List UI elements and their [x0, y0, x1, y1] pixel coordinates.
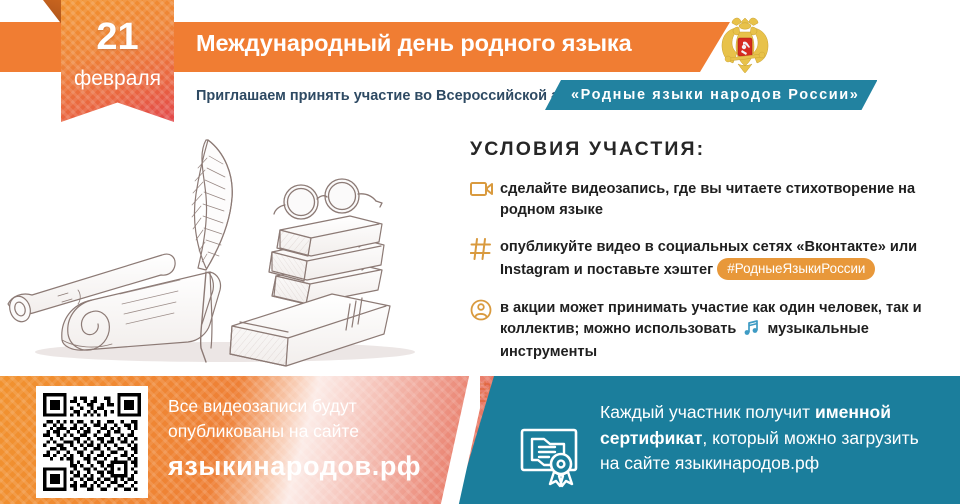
qr-code[interactable]	[36, 386, 148, 498]
footer-right-line1: Каждый участник получит именной	[600, 400, 919, 426]
illustration-sketch	[0, 126, 460, 376]
user-circle-icon	[470, 298, 500, 324]
condition-item-participants: в акции может принимать участие как один…	[470, 298, 950, 363]
condition-text-video: сделайте видеозапись, где вы читаете сти…	[500, 179, 950, 220]
footer-right-line2: сертификат, который можно загрузить	[600, 426, 919, 452]
condition-text-hashtag: опубликуйте видео в социальных сетях «Вк…	[500, 237, 950, 280]
certificate-icon	[518, 422, 584, 488]
footer-right-line2-plain: , который можно загрузить	[702, 428, 918, 448]
footer-right-line2-bold: сертификат	[600, 428, 702, 448]
hashtag-badge[interactable]: #РодныеЯзыкиРоссии	[717, 258, 875, 280]
page-title: Международный день родного языка	[196, 30, 696, 57]
footer-right-line3: на сайте языкинародов.рф	[600, 451, 919, 477]
footer-left-line1: Все видеозаписи будут	[168, 394, 421, 419]
footer-website[interactable]: языкинародов.рф	[168, 451, 421, 482]
russian-coat-of-arms-icon	[714, 14, 776, 80]
date-day: 21	[61, 18, 174, 56]
footer-right-text: Каждый участник получит именной сертифик…	[600, 400, 919, 477]
footer-right-line1-plain: Каждый участник получит	[600, 402, 815, 422]
video-camera-icon	[470, 179, 500, 205]
condition-item-hashtag: опубликуйте видео в социальных сетях «Вк…	[470, 237, 950, 280]
campaign-ribbon: «Родные языки народов России»	[545, 80, 877, 110]
campaign-name: «Родные языки народов России»	[571, 87, 859, 103]
footer-right-line1-bold: именной	[815, 402, 891, 422]
header: Международный день родного языка 21 февр…	[0, 0, 960, 130]
condition-item-video: сделайте видеозапись, где вы читаете сти…	[470, 179, 950, 220]
condition-text-participants: в акции может принимать участие как один…	[500, 298, 950, 363]
footer-left-text: Все видеозаписи будут опубликованы на са…	[168, 394, 421, 482]
hash-icon	[470, 237, 500, 263]
poster-root: Международный день родного языка 21 февр…	[0, 0, 960, 504]
conditions-heading: УСЛОВИЯ УЧАСТИЯ:	[470, 138, 950, 161]
date-month: февраля	[61, 67, 174, 91]
music-note-icon	[743, 319, 760, 343]
subtitle: Приглашаем принять участие во Всероссийс…	[196, 88, 593, 104]
footer-left-line2: опубликованы на сайте	[168, 419, 421, 444]
